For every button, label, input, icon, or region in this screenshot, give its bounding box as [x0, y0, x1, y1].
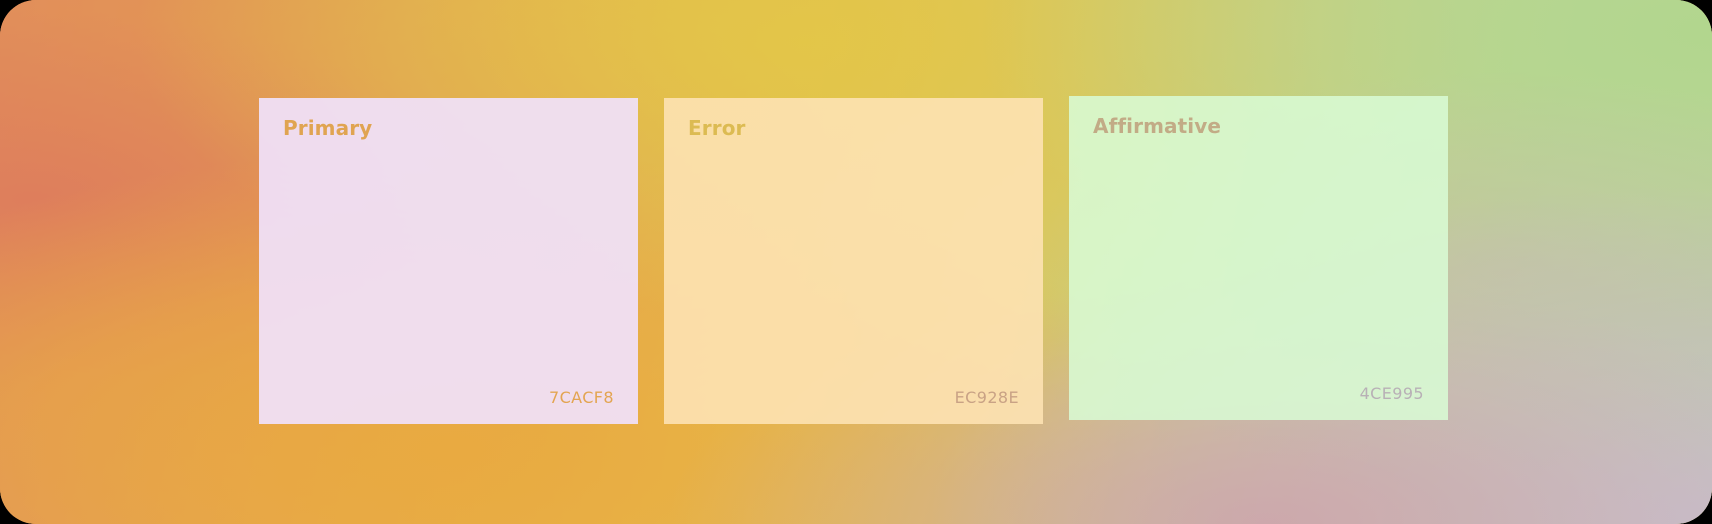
swatch-hex-primary: 7CACF8: [549, 390, 614, 406]
swatch-label-primary: Primary: [283, 118, 614, 138]
color-swatch-card-primary[interactable]: Primary 7CACF8: [259, 98, 638, 424]
swatch-hex-affirmative: 4CE995: [1360, 386, 1424, 402]
swatch-label-affirmative: Affirmative: [1093, 116, 1424, 136]
color-swatch-row: Primary 7CACF8 Error EC928E Affirmative …: [259, 98, 1448, 424]
swatch-hex-error: EC928E: [955, 390, 1019, 406]
color-palette-canvas: Primary 7CACF8 Error EC928E Affirmative …: [0, 0, 1712, 524]
swatch-label-error: Error: [688, 118, 1019, 138]
color-swatch-card-affirmative[interactable]: Affirmative 4CE995: [1069, 96, 1448, 420]
color-swatch-card-error[interactable]: Error EC928E: [664, 98, 1043, 424]
